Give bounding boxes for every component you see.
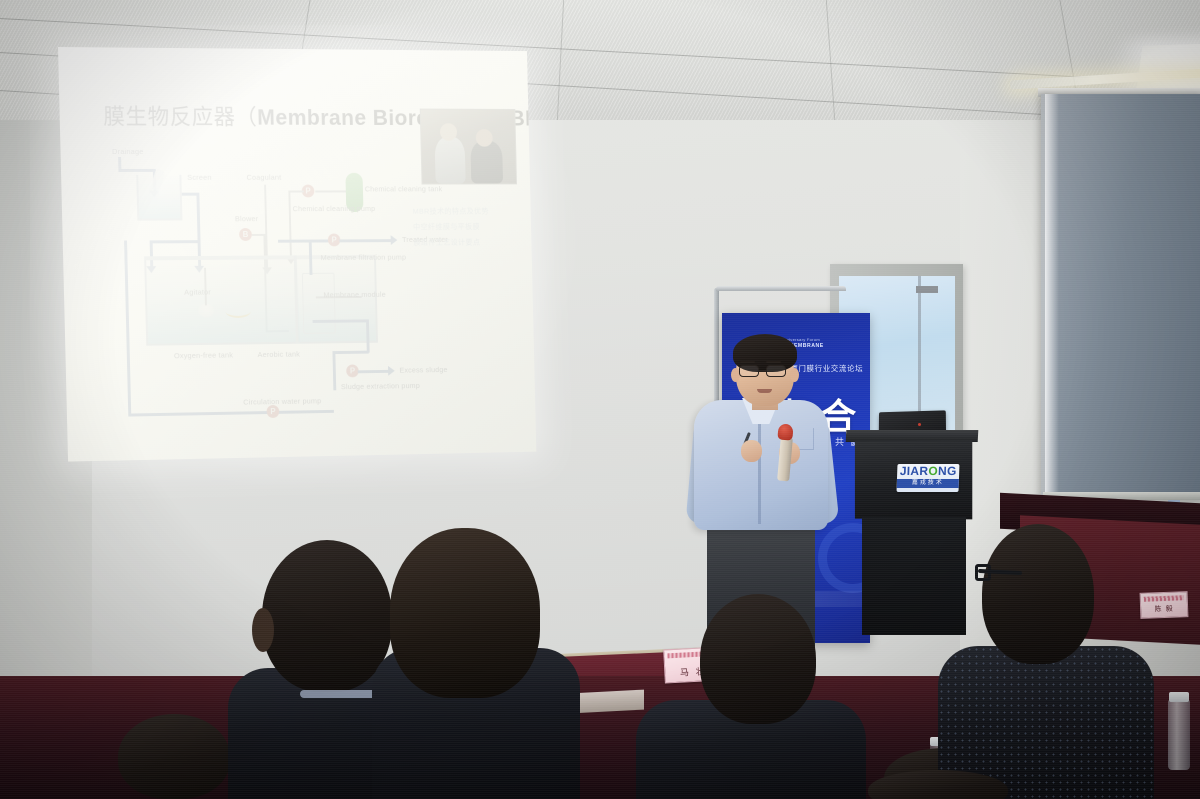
banner-top-bar xyxy=(716,286,846,291)
pipe xyxy=(332,351,368,354)
audience-head-front-left-man xyxy=(262,540,392,692)
water-bottle[interactable] xyxy=(1168,700,1190,770)
diagram-label-membrane-filtration-pump: Membrane filtration pump xyxy=(321,253,407,263)
microphone-head[interactable] xyxy=(777,423,793,440)
diagram-label-excess-sludge: Excess sludge xyxy=(399,365,447,375)
lectern-base xyxy=(862,517,966,635)
photo-face-left xyxy=(440,123,457,141)
flow-arrow xyxy=(388,366,395,376)
speaker-mouth xyxy=(757,389,772,393)
projection-screen: 膜生物反应器（Membrane Bioreactor, MBR） Drainag… xyxy=(58,47,536,462)
pipe xyxy=(309,240,313,275)
photo-face-right xyxy=(476,129,493,146)
diagram-label-circulation-water-pump: Circulation water pump xyxy=(243,396,321,407)
membrane-module xyxy=(302,273,336,334)
slide-content: 膜生物反应器（Membrane Bioreactor, MBR） Drainag… xyxy=(58,47,536,462)
placard-name-text: 陈 毅 xyxy=(1141,603,1187,615)
bottle-cap xyxy=(1169,692,1189,702)
speaker-glasses-lens xyxy=(766,365,786,377)
logo-part-b: NG xyxy=(938,464,957,478)
blower-icon: B xyxy=(239,228,252,241)
diagram-label-sludge-extraction-pump: Sludge extraction pump xyxy=(341,381,420,391)
circulation-water-pump-icon: P xyxy=(267,405,280,418)
pipe xyxy=(196,193,200,242)
pipe xyxy=(358,370,390,373)
jiarong-logo: JIARONG 嘉戎技术 xyxy=(897,464,960,492)
diagram-label-drainage: Drainage xyxy=(112,147,144,156)
laptop-logo-light xyxy=(918,423,921,426)
pipe xyxy=(128,410,334,417)
slide-inset-photo xyxy=(420,109,517,185)
placard-header-bar xyxy=(1144,595,1184,601)
agitator-icon xyxy=(198,303,214,317)
logo-chinese: 嘉戎技术 xyxy=(897,479,959,488)
audience-head-far-left xyxy=(118,714,230,799)
logo-part-a: JIAR xyxy=(900,464,929,478)
slide-bullet: MBR技术的特点及优势 xyxy=(413,204,526,220)
chem-line xyxy=(315,190,349,192)
diagram-label-screen: Screen xyxy=(187,173,212,182)
chem-line xyxy=(288,191,291,260)
collar-trim xyxy=(300,690,380,698)
logo-wordmark: JIARONG xyxy=(897,464,960,479)
slide-bullet: 中空纤维膜与平板膜 xyxy=(413,219,526,235)
audience-head-center-man xyxy=(700,594,816,724)
speaker-glasses-lens xyxy=(739,365,759,377)
speaker-eyebrow xyxy=(740,361,755,363)
diagram-label-coagulant: Coagulant xyxy=(246,173,281,182)
diagram-label-chemical-cleaning-pump: Chemical cleaning pump xyxy=(293,204,376,213)
diagram-label-oxygen-free-tank: Oxygen-free tank xyxy=(174,351,233,361)
audience-ear xyxy=(252,608,274,652)
diagram-label-blower: Blower xyxy=(235,214,259,223)
oxygen-free-tank xyxy=(144,257,300,345)
blind-highlight xyxy=(1045,94,1059,500)
diagram-label-agitator: Agitator xyxy=(184,288,211,298)
photo-person-right xyxy=(470,141,503,184)
chem-line xyxy=(288,191,303,192)
pipe xyxy=(150,240,201,243)
pipe xyxy=(339,239,392,242)
pipe xyxy=(332,351,336,390)
photo-person-left xyxy=(435,137,466,184)
flow-arrow xyxy=(391,235,398,245)
presentation-photo: 膜生物反应器（Membrane Bioreactor, MBR） Drainag… xyxy=(0,0,1200,799)
diagram-label-aerobic-tank: Aerobic tank xyxy=(257,350,300,360)
diagram-label-chemical-cleaning-tank: Chemical cleaning tank xyxy=(365,184,443,193)
audience-hair-front-left-woman xyxy=(390,528,540,698)
slide-bullet: 膜组件工艺设计要点 xyxy=(413,235,526,251)
pipe xyxy=(124,241,131,416)
diagram-label-membrane-module: Membrane module xyxy=(323,290,386,300)
logo-part-o: O xyxy=(928,464,938,478)
shirt-placket xyxy=(758,412,761,524)
glasses-lens xyxy=(975,564,991,581)
speaker-eyebrow xyxy=(766,361,781,363)
audience-head-right-man xyxy=(982,524,1094,664)
door-closer-arm xyxy=(916,286,938,293)
ceiling-panel-light xyxy=(1136,43,1200,93)
window-blind[interactable] xyxy=(1041,94,1200,500)
paren-open: （ xyxy=(235,105,257,130)
mbr-process-diagram: Drainage Screen Coagulant xyxy=(104,147,523,446)
speaker-ear xyxy=(790,368,799,382)
name-placard: 陈 毅 xyxy=(1140,591,1189,619)
slide-bullet-list: MBR技术的特点及优势 中空纤维膜与平板膜 膜组件工艺设计要点 xyxy=(413,204,526,251)
pipe xyxy=(118,169,155,172)
speaker-left-hand xyxy=(741,440,762,462)
slide-title-cn: 膜生物反应器 xyxy=(103,104,236,129)
speaker-glasses-bridge xyxy=(759,370,766,372)
pipe xyxy=(313,319,368,323)
